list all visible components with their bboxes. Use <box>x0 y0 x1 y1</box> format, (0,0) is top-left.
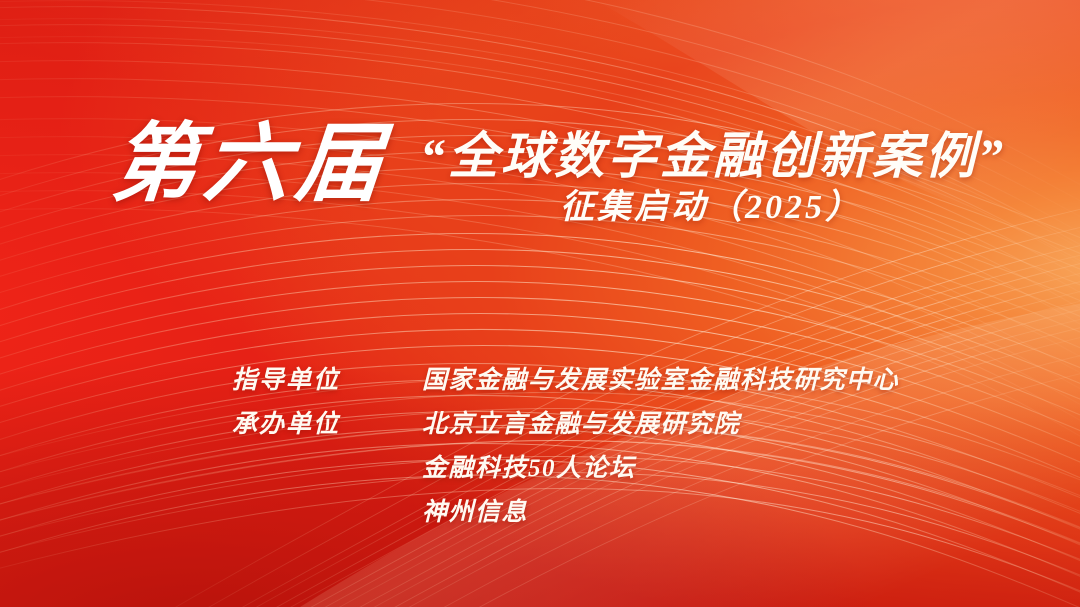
credit-value: 金融科技50人论坛 <box>422 448 636 484</box>
edition-title: 第六届 <box>107 112 392 216</box>
credit-value: 神州信息 <box>422 492 528 528</box>
credit-label: 承办单位 <box>232 404 422 440</box>
credit-value: 北京立言金融与发展研究院 <box>422 404 740 440</box>
credit-row: 金融科技50人论坛 <box>232 448 992 492</box>
poster-banner: 第六届 “全球数字金融创新案例” 征集启动（2025） 指导单位 国家金融与发展… <box>0 0 1080 607</box>
credit-row: 指导单位 国家金融与发展实验室金融科技研究中心 <box>232 360 992 404</box>
credit-value: 国家金融与发展实验室金融科技研究中心 <box>422 360 899 396</box>
credit-row: 承办单位 北京立言金融与发展研究院 <box>232 404 992 448</box>
quoted-program-title: “全球数字金融创新案例” <box>420 124 1006 188</box>
headline-row: 第六届 “全球数字金融创新案例” <box>0 112 1080 224</box>
credits-block: 指导单位 国家金融与发展实验室金融科技研究中心 承办单位 北京立言金融与发展研究… <box>232 360 992 536</box>
credit-row: 神州信息 <box>232 492 992 536</box>
subtitle-launch-year: 征集启动（2025） <box>560 186 862 230</box>
credit-label: 指导单位 <box>232 360 422 396</box>
